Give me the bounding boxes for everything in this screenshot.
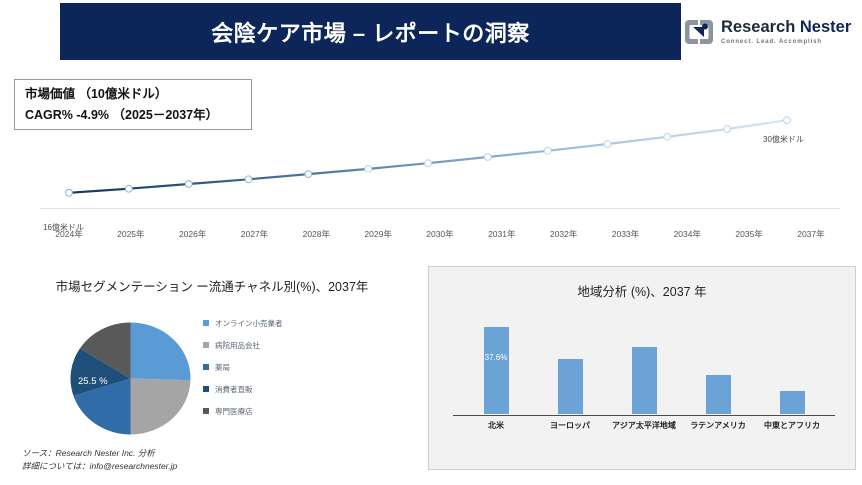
year-tick-label: 2029年	[349, 228, 407, 244]
page-title: 会陰ケア市場 – レポートの洞察	[211, 16, 529, 48]
bar-column	[618, 317, 670, 414]
line-chart-svg	[0, 60, 862, 245]
line-data-point	[245, 176, 252, 183]
bar: 37.6%	[484, 327, 509, 414]
pie-legend-item[interactable]: オンライン小売業者	[203, 312, 343, 334]
year-tick-label: 2034年	[658, 228, 716, 244]
bar-category-label: 北米	[462, 420, 530, 431]
regional-analysis-panel: 地域分析 (%)、2037 年 37.6% 北米ヨーロッパアジア太平洋地域ラテン…	[428, 266, 856, 470]
year-tick-label: 2027年	[225, 228, 283, 244]
legend-swatch-icon	[203, 342, 209, 348]
regional-bars: 37.6%	[459, 317, 829, 414]
research-nester-logo: Research Nester Connect. Lead. Accomplis…	[684, 14, 852, 50]
regional-bar-labels: 北米ヨーロッパアジア太平洋地域ラテンアメリカ中東とアフリカ	[459, 420, 829, 431]
bar-column	[692, 317, 744, 414]
pie-legend-item[interactable]: 専門医療店	[203, 400, 343, 422]
bar-category-label: ヨーロッパ	[536, 420, 604, 431]
bar	[706, 375, 731, 414]
line-data-point	[784, 117, 791, 124]
bar-category-label: アジア太平洋地域	[610, 420, 678, 431]
line-chart-x-axis	[40, 208, 840, 209]
line-data-point	[484, 154, 491, 161]
source-line-1: ソース：Research Nester Inc. 分析	[22, 447, 177, 460]
line-data-point	[365, 166, 372, 173]
logo-text: Research Nester Connect. Lead. Accomplis…	[721, 19, 851, 45]
year-tick-label: 2024年	[40, 228, 98, 244]
line-chart-year-labels: 2024年2025年2026年2027年2028年2029年2030年2031年…	[40, 228, 840, 244]
year-tick-label: 2028年	[287, 228, 345, 244]
pie-legend-item[interactable]: 病院用品会社	[203, 334, 343, 356]
pie-legend: オンライン小売業者病院用品会社薬局消費者直販専門医療店	[203, 312, 343, 422]
logo-tagline: Connect. Lead. Accomplish	[721, 39, 851, 45]
line-end-value-label: 30億米ドル	[763, 134, 804, 145]
bar-column: 37.6%	[470, 317, 522, 414]
line-data-point	[664, 133, 671, 140]
year-tick-label: 2035年	[720, 228, 778, 244]
bar	[780, 391, 805, 414]
year-tick-label: 2032年	[535, 228, 593, 244]
regional-analysis-title: 地域分析 (%)、2037 年	[429, 281, 855, 300]
pie-legend-item[interactable]: 薬局	[203, 356, 343, 378]
segmentation-title: 市場セグメンテーション ー流通チャネル別(%)、2037年	[12, 278, 412, 296]
bar-category-label: 中東とアフリカ	[758, 420, 826, 431]
year-tick-label: 2026年	[164, 228, 222, 244]
bar-chart-x-axis	[453, 415, 835, 416]
legend-swatch-icon	[203, 386, 209, 392]
line-data-point	[604, 141, 611, 148]
source-note: ソース：Research Nester Inc. 分析 詳細については：info…	[22, 447, 177, 473]
bar	[558, 359, 583, 414]
legend-label: 病院用品会社	[215, 340, 260, 351]
year-tick-label: 2025年	[102, 228, 160, 244]
line-data-point	[544, 147, 551, 154]
year-tick-label: 2037年	[782, 228, 840, 244]
year-tick-label: 2033年	[596, 228, 654, 244]
line-data-point	[125, 185, 132, 192]
bar-category-label: ラテンアメリカ	[684, 420, 752, 431]
pie-slice	[131, 379, 191, 435]
line-data-point	[66, 189, 73, 196]
legend-label: 消費者直販	[215, 384, 253, 395]
header-title-bar: 会陰ケア市場 – レポートの洞察	[60, 3, 681, 60]
bar-data-label: 37.6%	[485, 353, 508, 362]
pie-legend-item[interactable]: 消費者直販	[203, 378, 343, 400]
legend-swatch-icon	[203, 408, 209, 414]
pie-slice	[131, 323, 191, 381]
pie-data-label: 25.5 %	[78, 376, 108, 387]
bar-column	[766, 317, 818, 414]
line-data-point	[724, 126, 731, 133]
legend-swatch-icon	[203, 320, 209, 326]
bar-column	[544, 317, 596, 414]
legend-label: 薬局	[215, 362, 230, 373]
source-line-2: 詳細については：info@researchnester.jp	[22, 460, 177, 473]
logo-name: Research Nester	[721, 19, 851, 36]
legend-swatch-icon	[203, 364, 209, 370]
legend-label: オンライン小売業者	[215, 318, 283, 329]
research-nester-logo-icon	[684, 19, 714, 45]
bar	[632, 347, 657, 414]
market-value-line-chart: 16億米ドル 30億米ドル	[0, 60, 862, 245]
line-data-point	[185, 181, 192, 188]
line-data-point	[305, 171, 312, 178]
line-data-point	[425, 160, 432, 167]
year-tick-label: 2031年	[473, 228, 531, 244]
year-tick-label: 2030年	[411, 228, 469, 244]
legend-label: 専門医療店	[215, 406, 253, 417]
